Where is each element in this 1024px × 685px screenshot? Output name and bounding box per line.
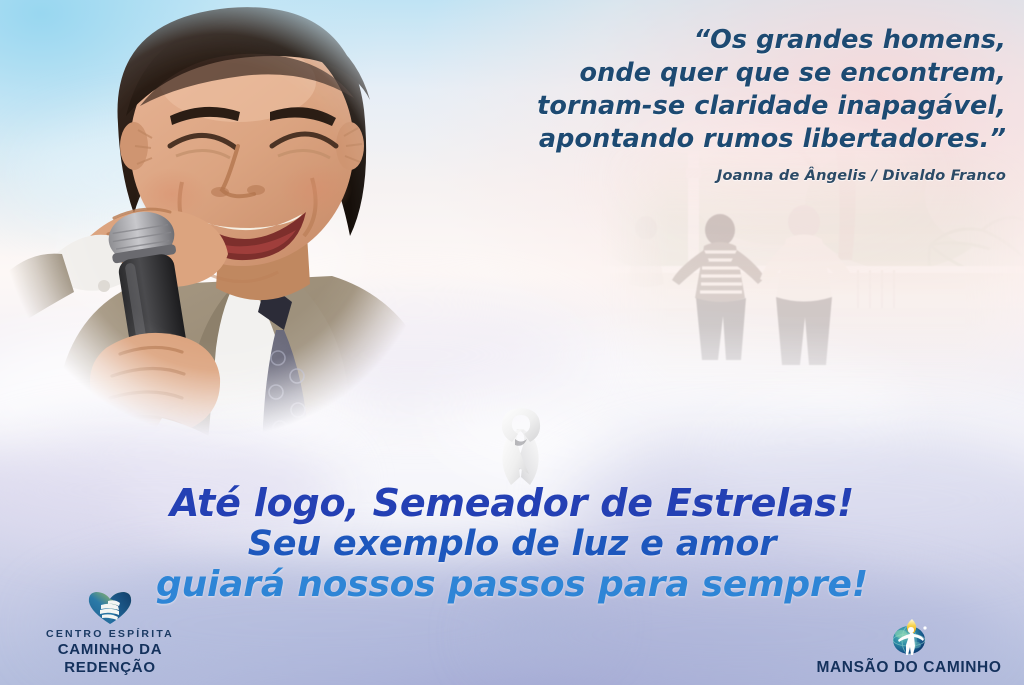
- quote-line-1: “Os grandes homens,: [446, 24, 1006, 57]
- white-awareness-ribbon-icon: [486, 405, 556, 485]
- logo-centro-espirita-caminho-da-redencao: CENTRO ESPÍRITA CAMINHO DA REDENÇÃO: [10, 591, 210, 677]
- logo-right-line-1: MANSÃO DO CAMINHO: [804, 659, 1014, 677]
- headline-line-2: Seu exemplo de luz e amor: [0, 524, 1024, 564]
- quote-line-3: tornam-se claridade inapagável,: [446, 90, 1006, 123]
- headline-block: Até logo, Semeador de Estrelas! Seu exem…: [0, 482, 1024, 605]
- hands-heart-icon: [86, 591, 134, 625]
- logo-left-line-2: CAMINHO DA REDENÇÃO: [10, 641, 210, 677]
- background-photo-people-walking: [600, 150, 1024, 450]
- quote-block: “Os grandes homens, onde quer que se enc…: [446, 24, 1006, 184]
- headline-line-1: Até logo, Semeador de Estrelas!: [0, 482, 1024, 524]
- logo-mansao-do-caminho: MANSÃO DO CAMINHO: [804, 616, 1014, 677]
- quote-attribution: Joanna de Ângelis / Divaldo Franco: [446, 168, 1006, 184]
- quote-line-4: apontando rumos libertadores.”: [446, 123, 1006, 156]
- globe-figure-flame-icon: [885, 616, 933, 656]
- portrait-divaldo-franco: [0, 0, 464, 466]
- quote-line-2: onde quer que se encontrem,: [446, 57, 1006, 90]
- memorial-poster: “Os grandes homens, onde quer que se enc…: [0, 0, 1024, 685]
- logo-left-line-1: CENTRO ESPÍRITA: [10, 628, 210, 641]
